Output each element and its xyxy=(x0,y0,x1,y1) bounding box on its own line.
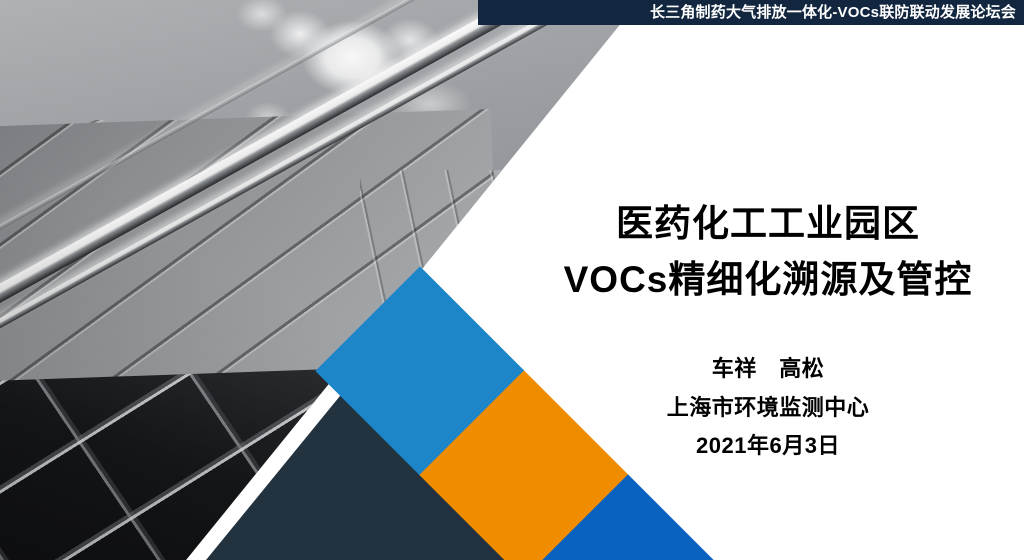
title-slide: 长三角制药大气排放一体化-VOCs联防联动发展论坛会 医药化工工业园区 VOCs… xyxy=(0,0,1024,560)
title-line-2: VOCs精细化溯源及管控 xyxy=(512,252,1024,308)
page-title: 医药化工工业园区 VOCs精细化溯源及管控 xyxy=(512,196,1024,308)
affiliation: 上海市环境监测中心 xyxy=(512,389,1024,428)
presenter-info: 车祥 高松 上海市环境监测中心 2021年6月3日 xyxy=(512,350,1024,466)
author-names: 车祥 高松 xyxy=(512,350,1024,389)
title-line-1: 医药化工工业园区 xyxy=(512,196,1024,252)
presentation-date: 2021年6月3日 xyxy=(512,427,1024,466)
content-area: 医药化工工业园区 VOCs精细化溯源及管控 车祥 高松 上海市环境监测中心 20… xyxy=(512,0,1024,560)
